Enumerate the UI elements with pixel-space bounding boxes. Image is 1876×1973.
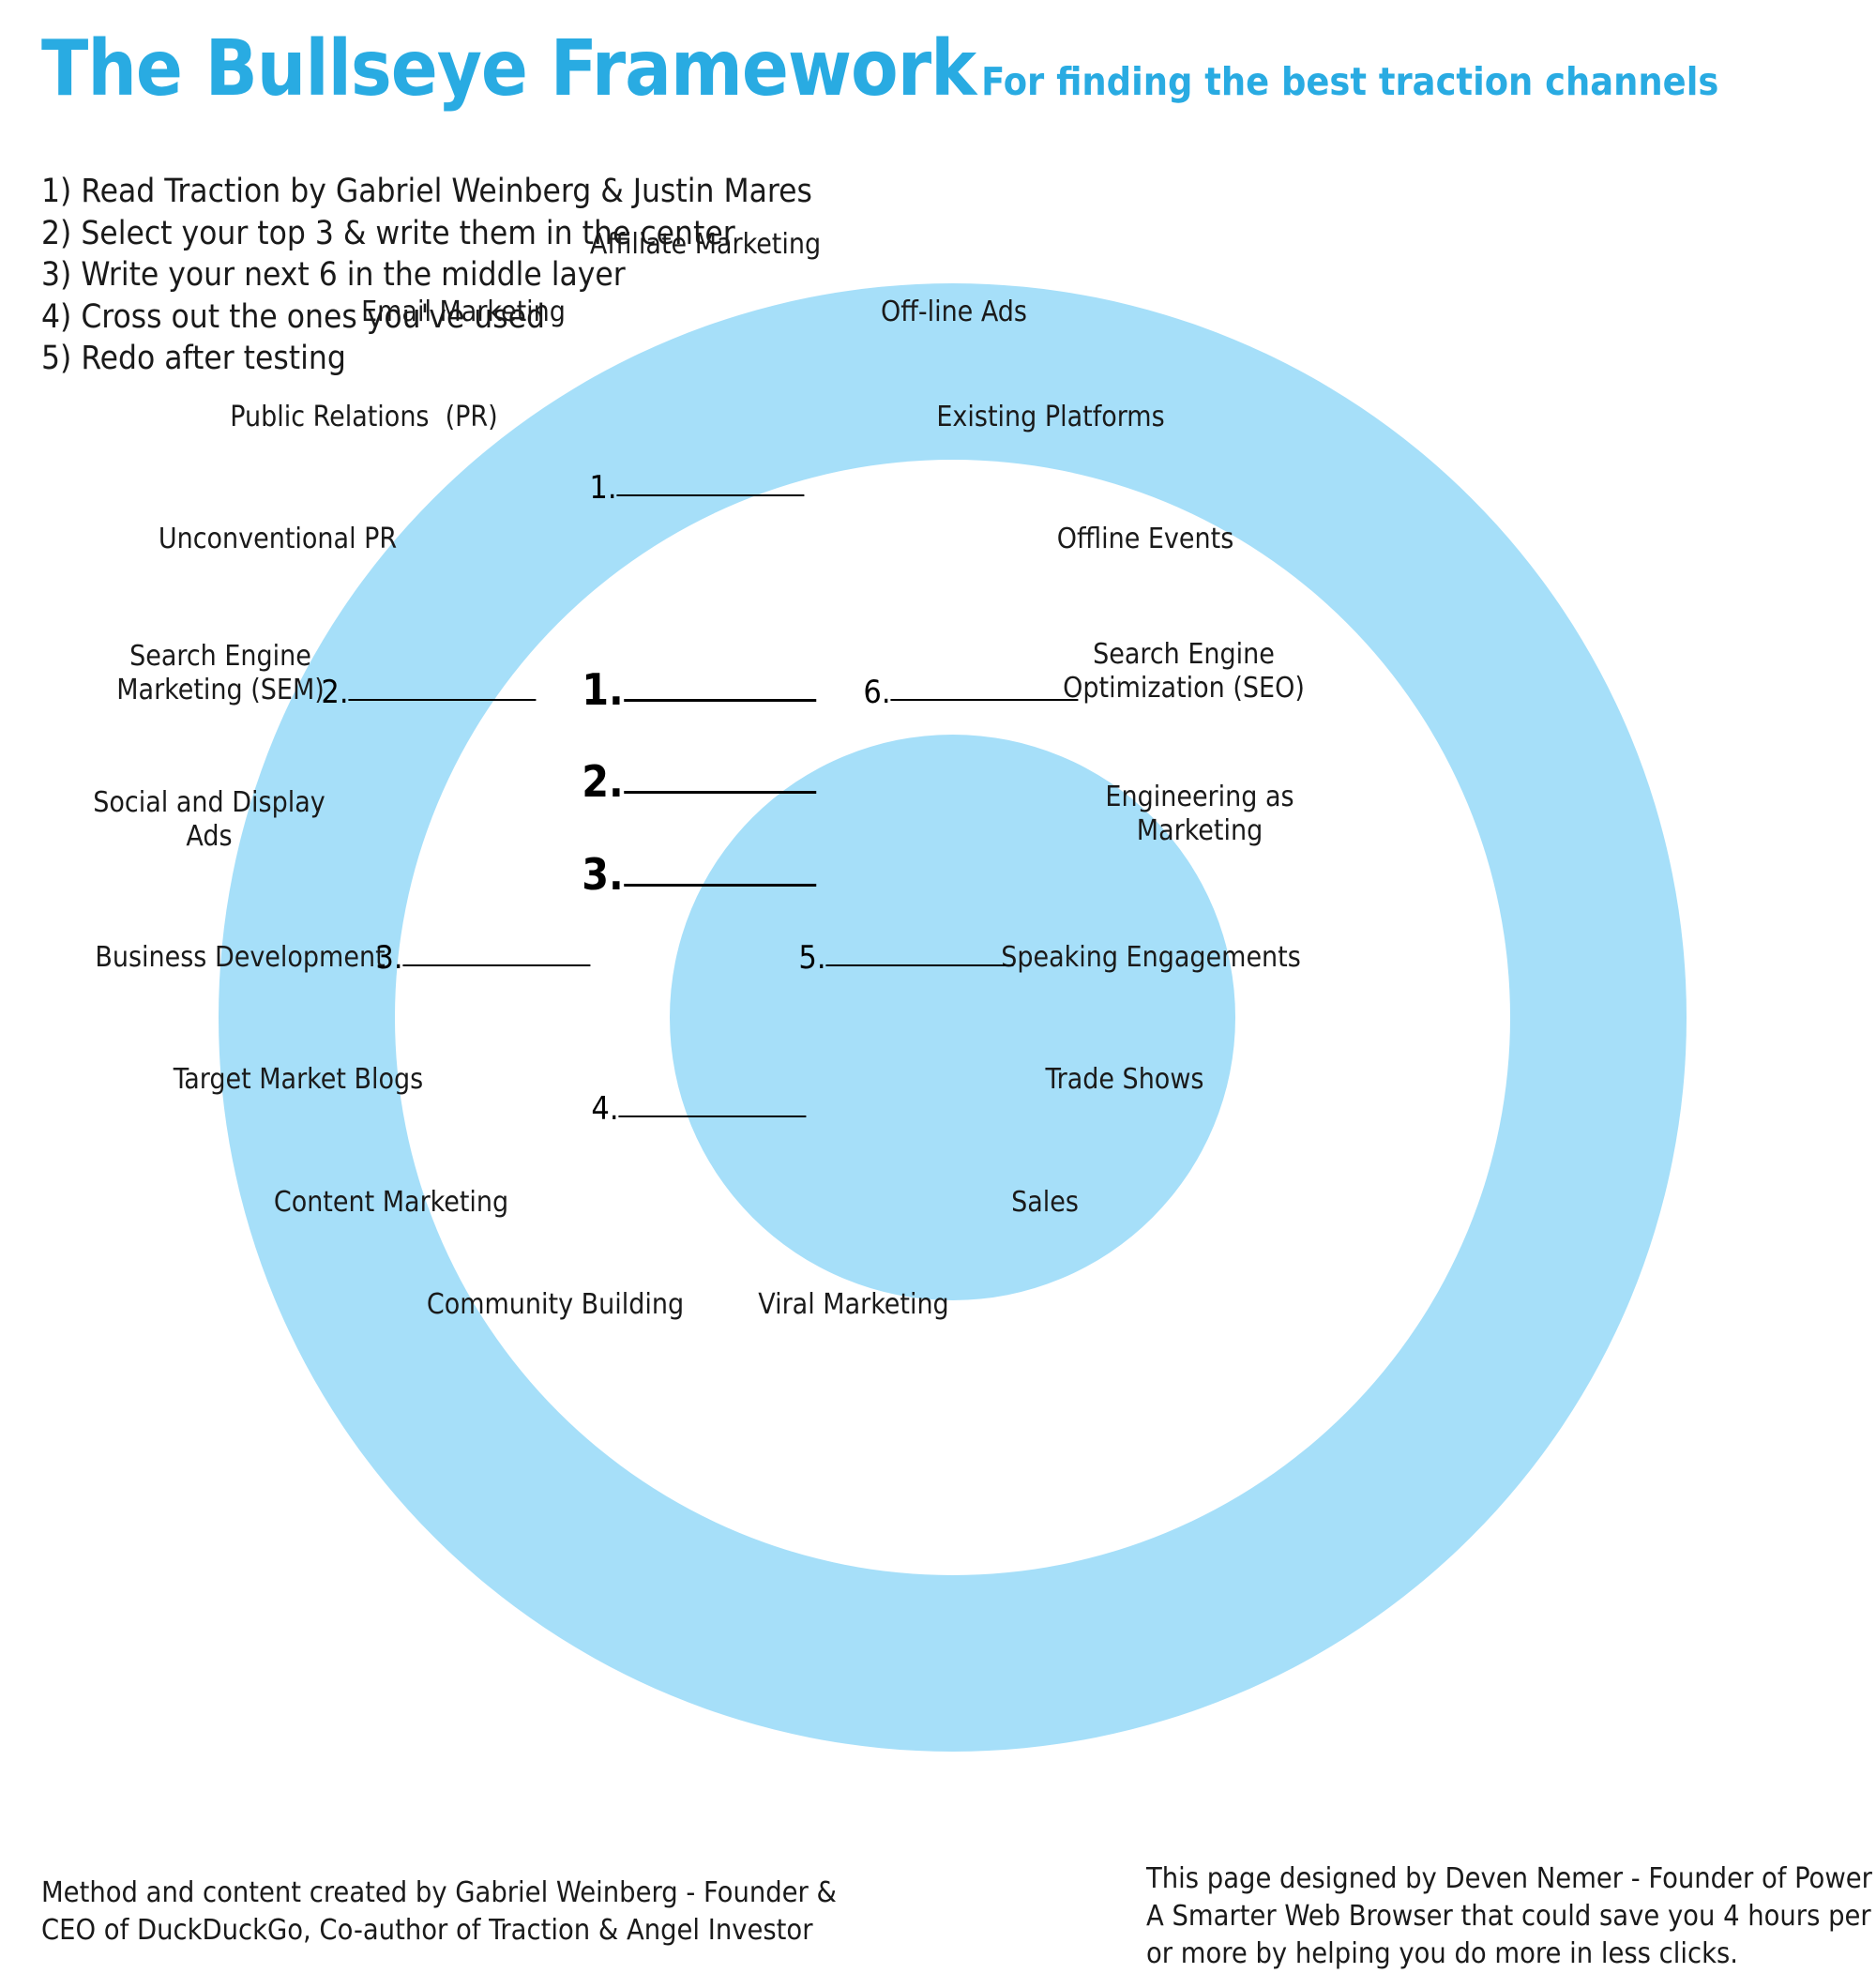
channel-label-business-development: Business Development [95, 941, 385, 975]
middle-blank-3-number: 3. [375, 939, 402, 977]
page-header: The Bullseye FrameworkFor finding the be… [41, 24, 1842, 114]
center-blank-3-number: 3. [582, 849, 624, 900]
instructions-list: 1) Read Traction by Gabriel Weinberg & J… [41, 171, 810, 380]
footer-credit-design: This page designed by Deven Nemer - Foun… [1146, 1860, 1876, 1973]
channel-label-social-and-display-ads: Social and Display Ads [93, 786, 325, 854]
channel-label-affiliate-marketing: Affiliate Marketing [590, 228, 821, 262]
instruction-item: 1) Read Traction by Gabriel Weinberg & J… [41, 171, 810, 213]
footer-credit-design-line: A Smarter Web Browser that could save yo… [1146, 1898, 1876, 1935]
footer-credit-method-line: CEO of DuckDuckGo, Co-author of Traction… [41, 1912, 885, 1950]
page-subtitle: For finding the best traction channels [981, 59, 1718, 104]
channel-label-trade-shows: Trade Shows [1046, 1063, 1204, 1097]
middle-blank-4-rule[interactable] [619, 1116, 807, 1117]
channel-label-target-market-blogs: Target Market Blogs [174, 1063, 423, 1097]
footer-credit-design-line: This page designed by Deven Nemer - Foun… [1146, 1860, 1876, 1898]
channel-label-public-relations: Public Relations (PR) [230, 401, 497, 434]
center-blank-2[interactable]: 2. [582, 756, 816, 807]
middle-blank-2-number: 2. [321, 674, 348, 711]
outer-ring [219, 283, 1687, 1752]
channel-label-offline-events: Offline Events [1057, 523, 1234, 556]
channel-label-search-engine-marketing: Search Engine Marketing (SEM) [116, 640, 325, 707]
middle-blank-1-rule[interactable] [617, 494, 805, 496]
center-blank-3[interactable]: 3. [582, 849, 816, 900]
channel-label-email-marketing: Email Marketing [361, 296, 566, 329]
channel-label-sales: Sales [1011, 1186, 1079, 1220]
middle-blank-2[interactable]: 2. [321, 674, 536, 711]
footer-credit-method: Method and content created by Gabriel We… [41, 1874, 885, 1950]
center-blank-1-number: 1. [582, 664, 624, 715]
page-title: The Bullseye Framework [41, 24, 976, 114]
middle-blank-4-number: 4. [591, 1090, 618, 1128]
channel-label-speaking-engagements: Speaking Engagements [1001, 941, 1301, 975]
center-blank-1[interactable]: 1. [582, 664, 816, 715]
middle-blank-6-number: 6. [863, 674, 890, 711]
middle-blank-2-rule[interactable] [349, 699, 537, 701]
middle-blank-6-rule[interactable] [891, 699, 1079, 701]
middle-blank-4[interactable]: 4. [591, 1090, 806, 1128]
middle-blank-6[interactable]: 6. [863, 674, 1078, 711]
middle-blank-1[interactable]: 1. [589, 469, 804, 507]
middle-blank-1-number: 1. [589, 469, 616, 507]
middle-blank-5-rule[interactable] [826, 964, 1014, 966]
channel-label-community-building: Community Building [427, 1288, 684, 1322]
center-blank-2-number: 2. [582, 756, 624, 807]
channel-label-content-marketing: Content Marketing [274, 1186, 508, 1220]
center-blank-3-rule[interactable] [624, 884, 816, 887]
middle-blank-5[interactable]: 5. [798, 939, 1013, 977]
instruction-item: 5) Redo after testing [41, 338, 810, 380]
channel-label-engineering-as-marketing: Engineering as Marketing [1105, 781, 1294, 848]
channel-label-unconventional-pr: Unconventional PR [159, 523, 397, 556]
middle-blank-3[interactable]: 3. [375, 939, 590, 977]
footer-credit-method-line: Method and content created by Gabriel We… [41, 1874, 885, 1912]
middle-blank-3-rule[interactable] [403, 964, 591, 966]
center-blank-1-rule[interactable] [624, 699, 816, 702]
channel-label-viral-marketing: Viral Marketing [758, 1288, 948, 1322]
middle-ring [395, 460, 1510, 1575]
footer-credit-design-line: or more by helping you do more in less c… [1146, 1935, 1876, 1973]
channel-label-search-engine-optimization: Search Engine Optimization (SEO) [1063, 638, 1305, 706]
channel-label-off-line-ads: Off-line Ads [881, 296, 1027, 329]
middle-blank-5-number: 5. [798, 939, 825, 977]
center-blank-2-rule[interactable] [624, 791, 816, 794]
channel-label-existing-platforms: Existing Platforms [936, 401, 1164, 434]
